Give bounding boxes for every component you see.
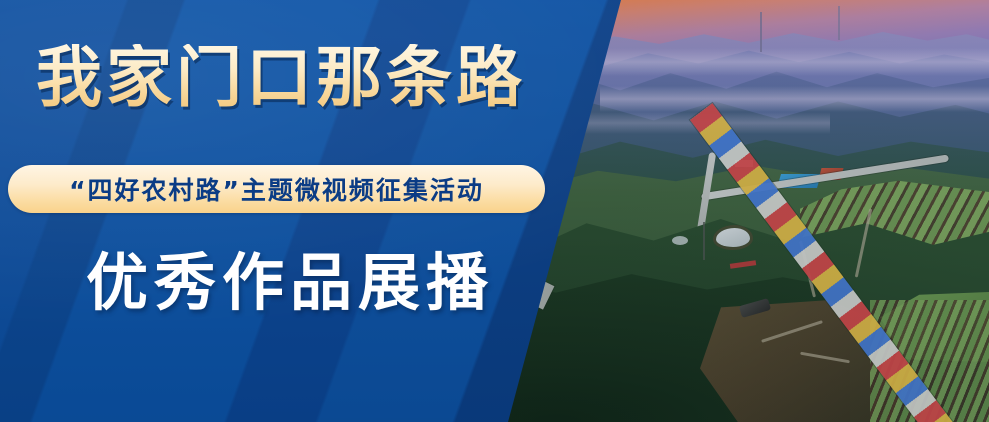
banner-content: 我家门口那条路 “四好农村路”主题微视频征集活动 优秀作品展播 xyxy=(0,0,989,422)
subtitle-text: “四好农村路”主题微视频征集活动 xyxy=(69,171,484,207)
main-title: 我家门口那条路 xyxy=(36,44,556,110)
promo-banner: 我家门口那条路 “四好农村路”主题微视频征集活动 优秀作品展播 xyxy=(0,0,989,422)
subtitle-pill: “四好农村路”主题微视频征集活动 xyxy=(8,165,545,213)
showcase-title: 优秀作品展播 xyxy=(86,252,494,314)
